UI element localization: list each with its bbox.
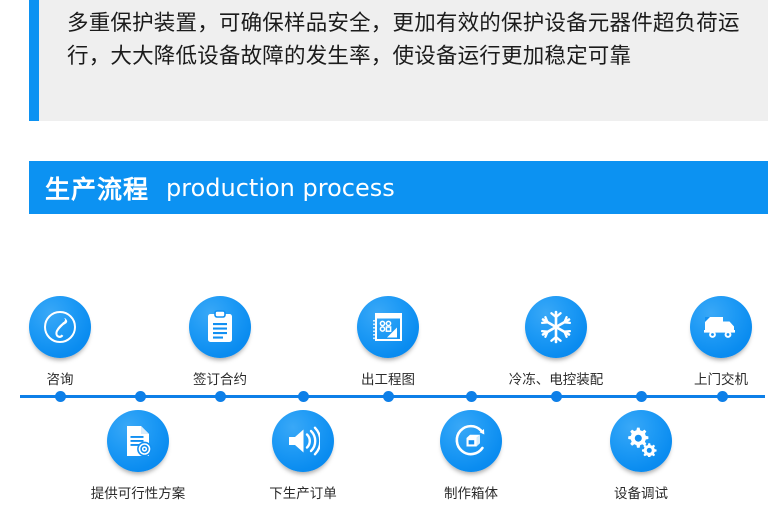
flow-step-top-4[interactable]: 冷冻、电控装配 <box>525 296 587 358</box>
flow-dot <box>717 391 728 402</box>
gears-icon <box>610 410 672 472</box>
flow-step-label: 设备调试 <box>540 482 742 502</box>
flow-dot <box>383 391 394 402</box>
feature-accent-bar <box>29 0 39 121</box>
speaker-icon <box>272 410 334 472</box>
snowflake-icon <box>525 296 587 358</box>
flow-dot <box>298 391 309 402</box>
flow-dot <box>636 391 647 402</box>
flow-step-label: 上门交机 <box>620 368 780 388</box>
flow-step-top-2[interactable]: 签订合约 <box>189 296 251 358</box>
section-title-banner: 生产流程 production process <box>29 161 768 214</box>
enclosure-icon <box>440 410 502 472</box>
flow-step-top-1[interactable]: 咨询 <box>29 296 91 358</box>
flow-step-bottom-2[interactable]: 下生产订单 <box>272 410 334 472</box>
flow-step-top-3[interactable]: 出工程图 <box>357 296 419 358</box>
feature-description-text: 多重保护装置，可确保样品安全，更加有效的保护设备元器件超负荷运行，大大降低设备故… <box>67 7 749 73</box>
flow-dot <box>466 391 477 402</box>
section-title-chinese: 生产流程 <box>45 170 149 206</box>
blueprint-icon <box>357 296 419 358</box>
flow-dot <box>551 391 562 402</box>
flow-dot <box>215 391 226 402</box>
flow-step-bottom-4[interactable]: 设备调试 <box>610 410 672 472</box>
section-title-english: production process <box>166 174 395 202</box>
truck-icon <box>690 296 752 358</box>
document-seal-icon <box>107 410 169 472</box>
flow-dot <box>135 391 146 402</box>
clipboard-icon <box>189 296 251 358</box>
flow-step-bottom-1[interactable]: 提供可行性方案 <box>107 410 169 472</box>
flow-dot <box>55 391 66 402</box>
telephone-icon <box>29 296 91 358</box>
feature-description-block: 多重保护装置，可确保样品安全，更加有效的保护设备元器件超负荷运行，大大降低设备故… <box>29 0 768 121</box>
flow-step-bottom-3[interactable]: 制作箱体 <box>440 410 502 472</box>
flow-step-top-5[interactable]: 上门交机 <box>690 296 752 358</box>
